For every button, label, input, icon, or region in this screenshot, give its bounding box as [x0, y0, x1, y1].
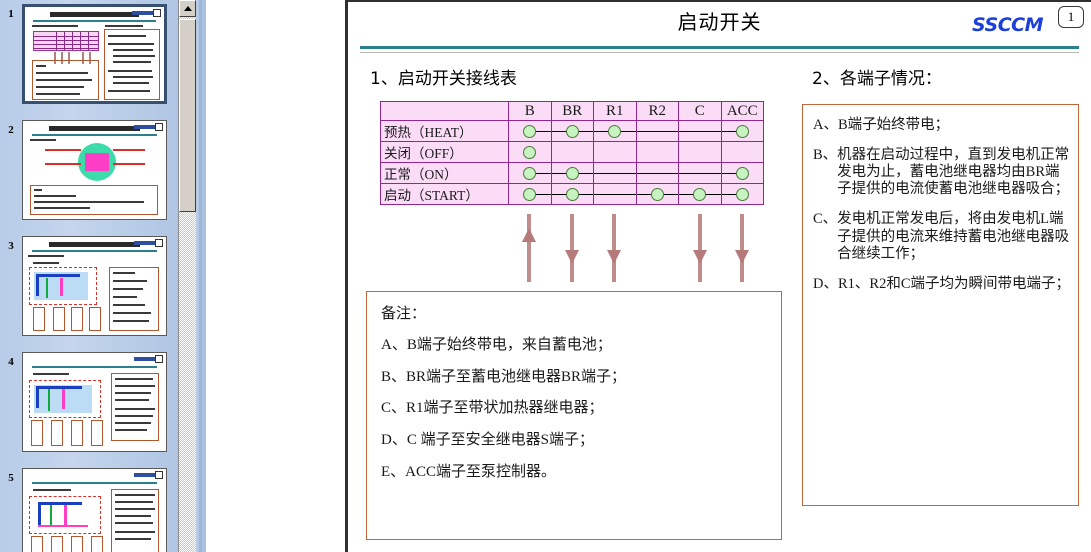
cell-heat-B [509, 121, 552, 142]
contact-dot [566, 167, 579, 180]
thumb-circuit-group [29, 496, 101, 534]
thumbnail-slide-2[interactable]: 2 [0, 120, 178, 220]
note-key: A、 [381, 337, 407, 355]
pane-edge [199, 0, 202, 552]
cell-off-B [509, 142, 552, 163]
thumbnail-number-5: 5 [0, 468, 22, 484]
contact-dot [736, 167, 749, 180]
thumbnail-canvas-2[interactable] [22, 120, 167, 220]
thumb-notes [30, 185, 158, 215]
table-corner-cell [381, 102, 509, 121]
thumbnail-number-2: 2 [0, 120, 22, 136]
table-row-heat: 预热（HEAT） [381, 121, 764, 142]
contact-dot [736, 188, 749, 201]
note-key: D、 [813, 276, 838, 293]
cell-heat-BR [551, 121, 594, 142]
table-row-off: 关闭（OFF） [381, 142, 764, 163]
cell-off-ACC [721, 142, 764, 163]
contact-dot [523, 167, 536, 180]
thumb-rule [32, 250, 158, 252]
note-text: B端子始终带电，来自蓄电池； [407, 337, 773, 355]
triangle-up-icon [184, 6, 192, 11]
page-number-badge: 1 [1058, 6, 1084, 28]
note-item-b: B、 BR端子至蓄电池继电器BR端子； [367, 369, 781, 387]
note-text: R1端子至带状加热器继电器； [406, 400, 773, 418]
arrow-down-R1 [612, 214, 616, 282]
thumb-logo [134, 357, 156, 361]
thumbnail-content-5 [23, 469, 166, 552]
cell-on-R1 [594, 163, 637, 184]
cell-heat-R2 [636, 121, 679, 142]
wiring-table: B BR R1 R2 C ACC 预热（HEAT） [380, 101, 764, 205]
thumb-page-badge [155, 355, 163, 363]
cell-on-R2 [636, 163, 679, 184]
thumb-page-badge [155, 123, 163, 131]
thumb-page-badge [155, 471, 163, 479]
note-text: B端子始终带电； [838, 117, 1072, 134]
table-row-start: 启动（START） [381, 184, 764, 205]
cell-off-R2 [636, 142, 679, 163]
scrollbar-thumb[interactable] [179, 19, 196, 212]
table-row-on: 正常（ON） [381, 163, 764, 184]
column-header-BR: BR [551, 102, 594, 121]
thumbnail-pane-scrollbar[interactable] [178, 0, 196, 552]
arrow-down-C [698, 214, 702, 282]
cell-heat-C [679, 121, 722, 142]
cell-start-B [509, 184, 552, 205]
arrow-up-B [527, 214, 531, 282]
row-label-on: 正常（ON） [381, 163, 509, 184]
thumb-notes-left [32, 60, 99, 100]
note-text: R1、R2和C端子均为瞬间带电端子； [838, 276, 1072, 293]
thumb-notes [111, 489, 159, 552]
thumb-title-bar [49, 126, 141, 131]
thumbnail-slide-1[interactable]: 1 [0, 4, 178, 104]
slide-left-margin [206, 0, 345, 552]
thumb-circuit-group [29, 380, 101, 418]
contact-dot [523, 188, 536, 201]
slide-thumbnail-pane[interactable]: 1 [0, 0, 178, 552]
thumb-rule [32, 482, 158, 484]
thumb-heading-right [105, 25, 143, 27]
contact-dot [566, 188, 579, 201]
column-header-C: C [679, 102, 722, 121]
note-item-d: D、 C 端子至安全继电器S端子； [367, 432, 781, 450]
thumb-logo [134, 241, 156, 245]
note-item-e: E、 ACC端子至泵控制器。 [367, 464, 781, 482]
thumbnail-slide-5[interactable]: 5 [0, 468, 178, 552]
note-key: C、 [813, 211, 837, 262]
contact-dot [608, 125, 621, 138]
thumb-notes [111, 373, 159, 441]
cell-start-BR [551, 184, 594, 205]
contact-dot [736, 125, 749, 138]
thumbnail-canvas-4[interactable] [22, 352, 167, 452]
thumbnail-canvas-5[interactable] [22, 468, 167, 552]
arrow-down-BR [570, 214, 574, 282]
column-header-R2: R2 [636, 102, 679, 121]
terminal-note-a: A、 B端子始终带电； [803, 117, 1078, 134]
thumbnail-content-2 [23, 121, 166, 219]
thumb-rule [32, 134, 158, 136]
note-key: B、 [813, 147, 837, 198]
cell-on-ACC [721, 163, 764, 184]
cell-off-C [679, 142, 722, 163]
thumb-circuit-block [85, 153, 109, 171]
thumbnail-number-3: 3 [0, 236, 22, 252]
thumbnail-content-1 [25, 7, 164, 101]
thumb-logo [134, 473, 156, 477]
cell-heat-ACC [721, 121, 764, 142]
thumbnail-content-4 [23, 353, 166, 451]
column-header-B: B [509, 102, 552, 121]
brand-logo: SSCCM [972, 14, 1043, 36]
slide-editing-area[interactable]: 启动开关 SSCCM 1 1、启动开关接线表 2、各端子情况： B BR R1 … [206, 0, 1091, 552]
section-heading-terminals: 2、各端子情况： [812, 64, 942, 89]
note-text: BR端子至蓄电池继电器BR端子； [406, 369, 773, 387]
thumb-rule [33, 20, 155, 22]
thumb-circuit-group [29, 267, 97, 305]
thumb-title-bar [50, 12, 139, 17]
cell-off-R1 [594, 142, 637, 163]
cell-on-B [509, 163, 552, 184]
note-key: C、 [381, 400, 406, 418]
thumbnail-slide-3[interactable]: 3 [0, 236, 178, 336]
thumb-mini-table [33, 31, 99, 51]
table-header-row: B BR R1 R2 C ACC [381, 102, 764, 121]
thumb-logo [134, 125, 156, 129]
row-label-heat: 预热（HEAT） [381, 121, 509, 142]
terminal-note-b: B、 机器在启动过程中，直到发电机正常发电为止，蓄电池继电器均由BR端子提供的电… [803, 147, 1078, 198]
column-header-ACC: ACC [721, 102, 764, 121]
thumbnail-number-1: 1 [0, 4, 22, 20]
scroll-up-button[interactable] [179, 0, 196, 17]
note-text: C 端子至安全继电器S端子； [407, 432, 773, 450]
cell-start-R2 [636, 184, 679, 205]
notes-heading: 备注： [367, 292, 781, 323]
cell-start-C [679, 184, 722, 205]
terminal-arrows [380, 214, 764, 282]
column-header-R1: R1 [594, 102, 637, 121]
title-divider-rule [360, 46, 1079, 49]
arrow-down-ACC [740, 214, 744, 282]
thumb-heading-left [32, 25, 78, 27]
contact-dot [523, 125, 536, 138]
terminal-note-d: D、 R1、R2和C端子均为瞬间带电端子； [803, 276, 1078, 293]
cell-heat-R1 [594, 121, 637, 142]
thumb-notes-right [104, 29, 160, 100]
thumbnail-content-3 [23, 237, 166, 335]
thumb-notes [109, 267, 159, 331]
contact-dot [651, 188, 664, 201]
thumbnail-canvas-1[interactable] [22, 4, 167, 104]
thumb-page-badge [153, 9, 161, 17]
notes-box-left: 备注： A、 B端子始终带电，来自蓄电池； B、 BR端子至蓄电池继电器BR端子… [366, 291, 782, 540]
notes-box-right: A、 B端子始终带电； B、 机器在启动过程中，直到发电机正常发电为止，蓄电池继… [802, 104, 1079, 506]
title-divider-rule-thin [360, 52, 1079, 53]
cell-on-C [679, 163, 722, 184]
terminal-note-c: C、 发电机正常发电后，将由发电机L端子提供的电流来维持蓄电池继电器吸合继续工作… [803, 211, 1078, 262]
note-text: 机器在启动过程中，直到发电机正常发电为止，蓄电池继电器均由BR端子提供的电流使蓄… [837, 147, 1072, 198]
cell-start-ACC [721, 184, 764, 205]
thumb-logo [132, 11, 154, 15]
cell-on-BR [551, 163, 594, 184]
thumb-page-badge [155, 239, 163, 247]
contact-dot [523, 146, 536, 159]
contact-dot [566, 125, 579, 138]
note-key: B、 [381, 369, 406, 387]
note-text: 发电机正常发电后，将由发电机L端子提供的电流来维持蓄电池继电器吸合继续工作； [837, 211, 1072, 262]
note-key: A、 [813, 117, 838, 134]
thumbnail-slide-4[interactable]: 4 [0, 352, 178, 452]
cell-start-R1 [594, 184, 637, 205]
cell-off-BR [551, 142, 594, 163]
note-key: E、 [381, 464, 405, 482]
thumb-title-bar [49, 242, 141, 247]
row-label-off: 关闭（OFF） [381, 142, 509, 163]
note-item-a: A、 B端子始终带电，来自蓄电池； [367, 337, 781, 355]
thumb-rule [32, 366, 158, 368]
thumb-heading [30, 139, 56, 141]
note-item-c: C、 R1端子至带状加热器继电器； [367, 400, 781, 418]
note-key: D、 [381, 432, 407, 450]
slide-canvas[interactable]: 启动开关 SSCCM 1 1、启动开关接线表 2、各端子情况： B BR R1 … [345, 0, 1091, 552]
contact-dot [693, 188, 706, 201]
note-text: ACC端子至泵控制器。 [405, 464, 773, 482]
thumbnail-canvas-3[interactable] [22, 236, 167, 336]
thumbnail-number-4: 4 [0, 352, 22, 368]
row-label-start: 启动（START） [381, 184, 509, 205]
section-heading-wiring-table: 1、启动开关接线表 [370, 64, 517, 89]
